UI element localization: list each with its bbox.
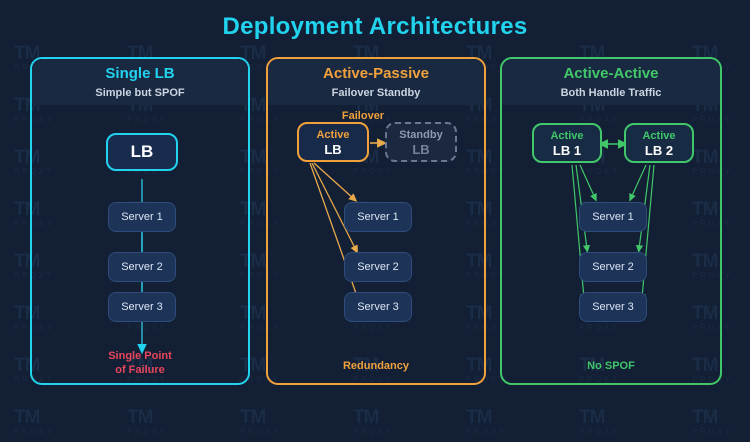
node-server-2[interactable]: Server 2	[108, 252, 176, 282]
node-server-3[interactable]: Server 3	[344, 292, 412, 322]
node-server-1[interactable]: Server 1	[108, 202, 176, 232]
panel-footer: No SPOF	[502, 359, 720, 373]
node-label: Server 2	[357, 261, 399, 273]
panel-single-lb[interactable]: Single LB Simple but SPOF LB Server 1 Se…	[30, 57, 250, 385]
watermark-tile: TMPROXY	[127, 408, 189, 442]
node-label-line-1: Active	[316, 128, 349, 142]
node-label: Server 3	[592, 301, 634, 313]
node-label: LB	[131, 142, 154, 162]
panel-title: Single LB	[32, 65, 248, 82]
panel-subtitle: Both Handle Traffic	[502, 87, 720, 99]
node-active-lb-1[interactable]: Active LB 1	[532, 123, 602, 163]
node-label: Server 1	[357, 211, 399, 223]
failover-edge-label: Failover	[288, 110, 438, 122]
watermark-tile: TMPROXY	[579, 408, 641, 442]
panel-active-passive[interactable]: Active-Passive Failover Standby Failover…	[266, 57, 486, 385]
node-label: Server 3	[357, 301, 399, 313]
watermark-tile: TMPROXY	[14, 408, 76, 442]
node-label-line-2: LB	[324, 142, 341, 157]
panel-active-active[interactable]: Active-Active Both Handle Traffic Active…	[500, 57, 722, 385]
watermark-tile: TMPROXY	[240, 408, 302, 442]
panel-footer-line-1: Redundancy	[268, 359, 484, 373]
node-label: Server 3	[121, 301, 163, 313]
watermark-tile: TMPROXY	[353, 408, 415, 442]
watermark-tile: TMPROXY	[466, 408, 528, 442]
panel-footer-line-1: Single Point	[32, 349, 248, 363]
watermark-tile: TMPROXY	[692, 408, 750, 442]
node-label-line-2: LB 1	[553, 143, 581, 158]
panel-footer-line-2: of Failure	[32, 363, 248, 377]
node-label-line-2: LB	[412, 142, 429, 157]
node-standby-lb[interactable]: Standby LB	[385, 122, 457, 162]
panel-footer: Redundancy	[268, 359, 484, 373]
panel-title: Active-Passive	[268, 65, 484, 82]
diagram-canvas: TMPROXYTMPROXYTMPROXYTMPROXYTMPROXYTMPRO…	[0, 0, 750, 400]
node-label-line-1: Active	[642, 129, 675, 143]
panel-title: Active-Active	[502, 65, 720, 82]
node-label: Server 2	[121, 261, 163, 273]
node-label-line-2: LB 2	[645, 143, 673, 158]
node-active-lb[interactable]: Active LB	[297, 122, 369, 162]
node-active-lb-2[interactable]: Active LB 2	[624, 123, 694, 163]
panel-footer-line-1: No SPOF	[502, 359, 720, 373]
node-server-1[interactable]: Server 1	[344, 202, 412, 232]
panel-subtitle: Simple but SPOF	[32, 87, 248, 99]
node-server-3[interactable]: Server 3	[579, 292, 647, 322]
panel-subtitle: Failover Standby	[268, 87, 484, 99]
node-label: Server 1	[592, 211, 634, 223]
node-label: Server 1	[121, 211, 163, 223]
panel-footer: Single Point of Failure	[32, 349, 248, 377]
page-title: Deployment Architectures	[0, 13, 750, 41]
node-load-balancer[interactable]: LB	[106, 133, 178, 171]
node-server-1[interactable]: Server 1	[579, 202, 647, 232]
node-server-2[interactable]: Server 2	[344, 252, 412, 282]
node-label-line-1: Active	[550, 129, 583, 143]
node-server-2[interactable]: Server 2	[579, 252, 647, 282]
node-label-line-1: Standby	[399, 128, 442, 142]
node-server-3[interactable]: Server 3	[108, 292, 176, 322]
node-label: Server 2	[592, 261, 634, 273]
